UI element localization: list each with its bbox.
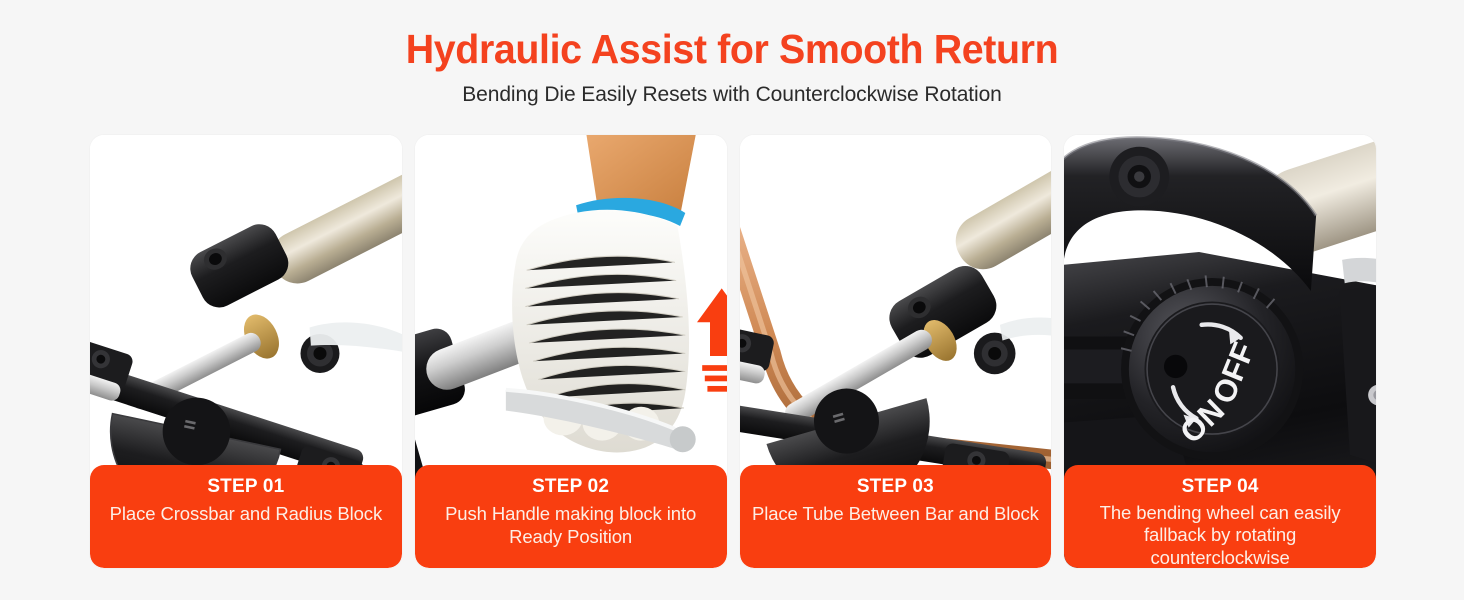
step-description: The bending wheel can easily fallback by… [1072,502,1368,568]
step-banner: STEP 02 Push Handle making block into Re… [415,465,727,568]
step-banner: STEP 01 Place Crossbar and Radius Block [90,465,402,568]
step-label: STEP 03 [748,475,1044,499]
step-description: Push Handle making block into Ready Posi… [423,502,719,549]
step-label: STEP 01 [98,475,394,499]
step-label: STEP 02 [423,475,719,499]
step-card[interactable]: OFF ON STEP 04 The bending wheel [1064,135,1376,568]
step-label: STEP 04 [1072,475,1368,499]
step-card[interactable]: STEP 03 Place Tube Between Bar and Block [740,135,1052,568]
step-banner: STEP 03 Place Tube Between Bar and Block [740,465,1052,568]
promo-banner: Hydraulic Assist for Smooth Return Bendi… [0,0,1464,600]
step-banner: STEP 04 The bending wheel can easily fal… [1064,465,1376,568]
step-card[interactable]: STEP 02 Push Handle making block into Re… [415,135,727,568]
step-description: Place Tube Between Bar and Block [748,502,1044,526]
page-subtitle: Bending Die Easily Resets with Countercl… [0,83,1464,107]
page-title: Hydraulic Assist for Smooth Return [29,26,1434,73]
step-card-list: STEP 01 Place Crossbar and Radius Block [90,135,1376,568]
header: Hydraulic Assist for Smooth Return Bendi… [0,0,1464,107]
step-description: Place Crossbar and Radius Block [98,502,394,526]
step-card[interactable]: STEP 01 Place Crossbar and Radius Block [90,135,402,568]
